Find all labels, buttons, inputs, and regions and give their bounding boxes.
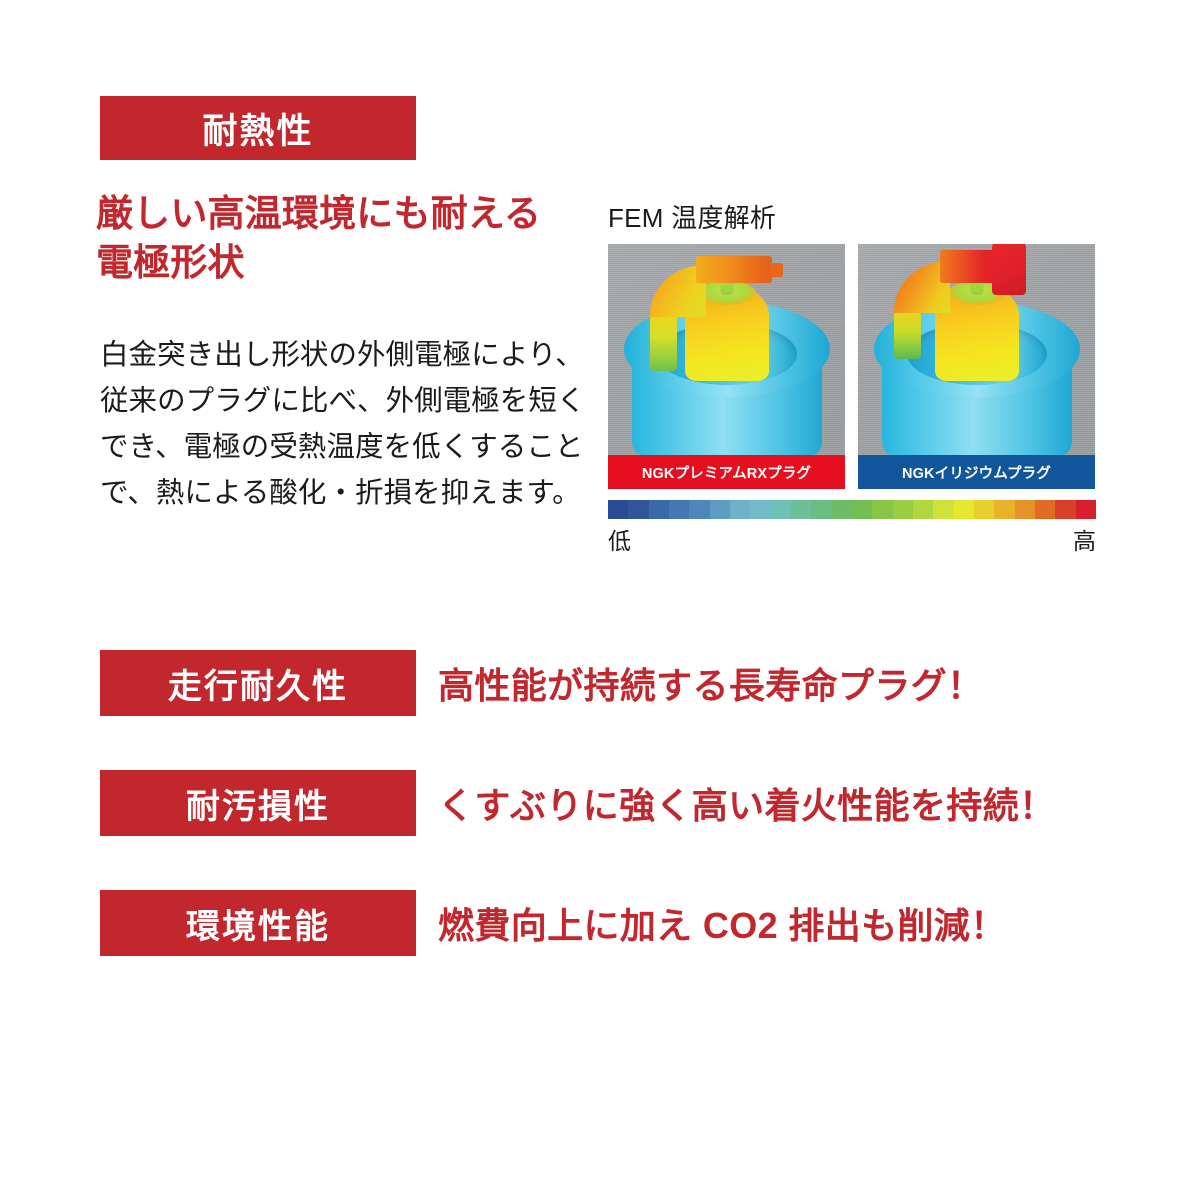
ground-electrode-tip <box>992 244 1026 295</box>
heading-line-2: 電極形状 <box>96 239 566 288</box>
feature-row-durability: 走行耐久性 高性能が持続する長寿命プラグ！ <box>100 650 1100 716</box>
fem-panel-caption-iridium: NGKイリジウムプラグ <box>858 455 1095 489</box>
feature-badge-fouling-resistance: 耐汚損性 <box>100 770 416 836</box>
colorbar-band-4 <box>689 500 709 519</box>
colorbar-band-21 <box>1035 500 1055 519</box>
colorbar-band-1 <box>628 500 648 519</box>
section-badge-heat-resistance: 耐熱性 <box>100 96 416 160</box>
colorbar-band-22 <box>1055 500 1075 519</box>
temperature-scale-labels: 低 高 <box>608 522 1096 556</box>
fem-panel-group: NGKプレミアムRXプラグ NGKイリジウムプラグ <box>608 244 1096 489</box>
feature-text-environmental: 燃費向上に加え CO2 排出も削減！ <box>438 897 1007 949</box>
ground-electrode-arm <box>940 250 1000 283</box>
colorbar-band-20 <box>1015 500 1035 519</box>
colorbar-band-9 <box>791 500 811 519</box>
colorbar-band-11 <box>832 500 852 519</box>
colorbar-band-23 <box>1076 500 1096 519</box>
feature-row-fouling-resistance: 耐汚損性 くすぶりに強く高い着火性能を持続！ <box>100 770 1100 836</box>
fem-analysis-title: FEM 温度解析 <box>608 198 1096 235</box>
spark-plug-render-iridium <box>874 287 1080 455</box>
feature-text-durability: 高性能が持続する長寿命プラグ！ <box>438 657 983 709</box>
colorbar-band-3 <box>669 500 689 519</box>
colorbar-band-7 <box>750 500 770 519</box>
fem-panel-premium-rx: NGKプレミアムRXプラグ <box>608 244 845 489</box>
colorbar-band-13 <box>872 500 892 519</box>
temperature-scale: 低 高 <box>608 500 1096 556</box>
fem-panel-iridium: NGKイリジウムプラグ <box>858 244 1095 489</box>
colorbar-band-14 <box>893 500 913 519</box>
temperature-colorbar <box>608 500 1096 519</box>
colorbar-band-0 <box>608 500 628 519</box>
colorbar-band-2 <box>649 500 669 519</box>
colorbar-band-17 <box>954 500 974 519</box>
fem-analysis-block: FEM 温度解析 NGKプレミアムRXプラグ <box>608 198 1096 556</box>
ground-electrode-vertical <box>894 311 921 359</box>
colorbar-band-19 <box>994 500 1014 519</box>
colorbar-band-6 <box>730 500 750 519</box>
colorbar-band-15 <box>913 500 933 519</box>
feature-text-fouling-resistance: くすぶりに強く高い着火性能を持続！ <box>438 777 1055 829</box>
colorbar-band-10 <box>811 500 831 519</box>
ground-electrode-arm <box>696 256 772 283</box>
feature-badge-environmental: 環境性能 <box>100 890 416 956</box>
heading-line-1: 厳しい高温環境にも耐える <box>96 190 566 239</box>
colorbar-band-18 <box>974 500 994 519</box>
heat-resistance-heading: 厳しい高温環境にも耐える 電極形状 <box>96 190 566 288</box>
infographic-page: 耐熱性 厳しい高温環境にも耐える 電極形状 白金突き出し形状の外側電極により、従… <box>0 0 1200 1200</box>
colorbar-band-8 <box>771 500 791 519</box>
ground-electrode-vertical <box>650 315 677 371</box>
spark-plug-render-rx <box>624 287 830 455</box>
heat-resistance-body-text: 白金突き出し形状の外側電極により、従来のプラグに比べ、外側電極を短くでき、電極の… <box>100 332 586 517</box>
colorbar-band-12 <box>852 500 872 519</box>
fem-panel-caption-premium-rx: NGKプレミアムRXプラグ <box>608 455 845 489</box>
scale-label-high: 高 <box>1073 522 1096 556</box>
colorbar-band-5 <box>710 500 730 519</box>
colorbar-band-16 <box>933 500 953 519</box>
feature-row-environmental: 環境性能 燃費向上に加え CO2 排出も削減！ <box>100 890 1100 956</box>
feature-badge-durability: 走行耐久性 <box>100 650 416 716</box>
scale-label-low: 低 <box>608 522 631 556</box>
ground-electrode-tip <box>770 263 783 277</box>
feature-list: 走行耐久性 高性能が持続する長寿命プラグ！ 耐汚損性 くすぶりに強く高い着火性能… <box>100 650 1100 956</box>
